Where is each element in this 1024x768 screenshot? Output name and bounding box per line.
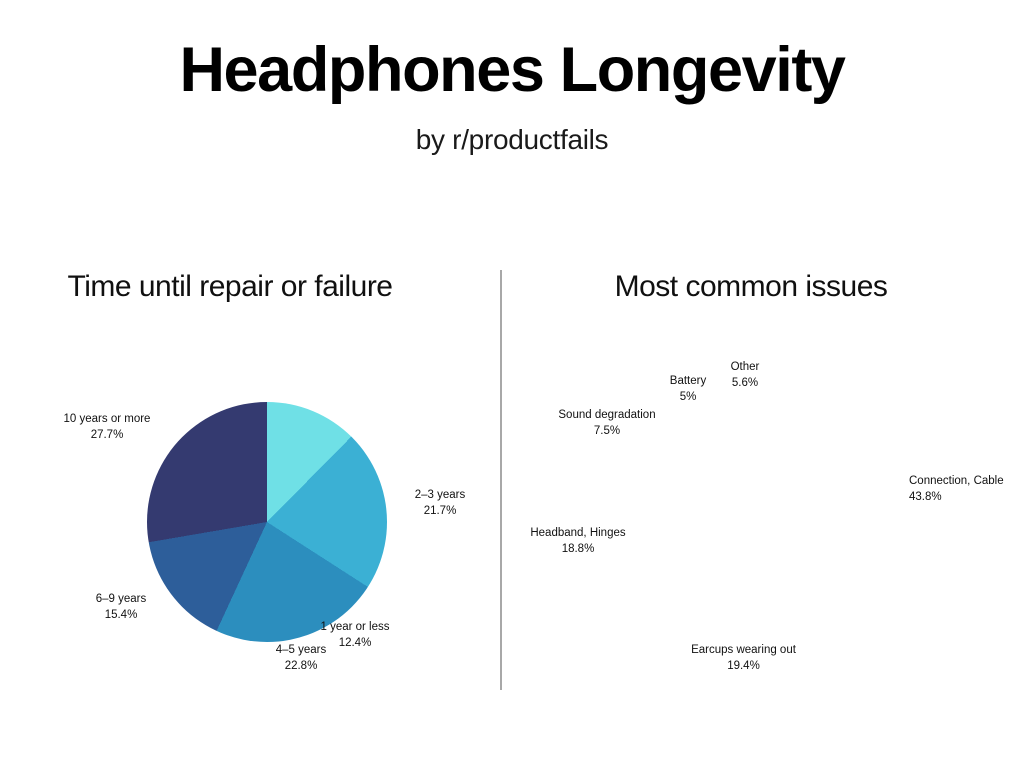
chart-panel-common-issues: Most common issues Connection, Cable 43.… — [501, 250, 1024, 720]
slice-label-headband-hinges: Headband, Hinges 18.8% — [523, 526, 633, 557]
slice-label-battery: Battery 5% — [656, 374, 720, 405]
slice-label-other: Other 5.6% — [713, 360, 777, 391]
slice-label-sound-degradation: Sound degradation 7.5% — [548, 408, 666, 439]
slice-label-10-years-or-more: 10 years or more 27.7% — [26, 412, 188, 443]
chart-title-right: Most common issues — [501, 270, 1001, 304]
slice-label-earcups-wearing-out: Earcups wearing out 19.4% — [681, 643, 806, 674]
header: Headphones Longevity by r/productfails — [0, 0, 1024, 156]
page-title: Headphones Longevity — [0, 0, 1024, 104]
chart-title-left: Time until repair or failure — [0, 270, 460, 304]
slice-label-6-9-years: 6–9 years 15.4% — [65, 592, 177, 623]
chart-panel-time-until-failure: Time until repair or failure 1 year or l… — [0, 250, 501, 720]
charts-area: Time until repair or failure 1 year or l… — [0, 250, 1024, 720]
slice-label-2-3-years: 2–3 years 21.7% — [385, 488, 495, 519]
slice-label-4-5-years: 4–5 years 22.8% — [245, 643, 357, 674]
page-subtitle: by r/productfails — [0, 104, 1024, 156]
slice-label-connection-cable: Connection, Cable 43.8% — [909, 474, 1024, 505]
